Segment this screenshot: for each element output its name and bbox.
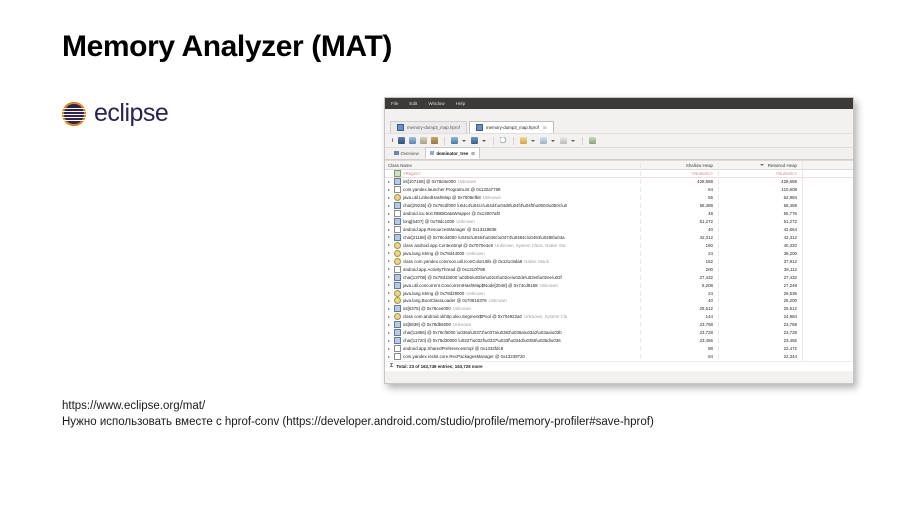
expand-arrow-icon[interactable]: ▸ [388,347,392,351]
editor-tab-active[interactable]: memory-dump3_map.hprof ☒ [469,121,554,133]
cell-spacer [802,234,853,242]
class-icon [394,258,401,265]
column-header-retained-heap[interactable]: Retained Heap [718,163,802,168]
editor-tab-label: memory-dump3_map.hprof [486,125,539,130]
array-icon [394,305,401,312]
menu-item-window[interactable]: Window [428,101,444,106]
cell-retained-heap: 27,248 [718,283,802,288]
cell-retained-heap: 23,728 [718,330,802,335]
table-row[interactable]: ▸char[11856] @ 0x78cf5000 \u036a\u0372\u… [385,329,853,337]
table-row[interactable]: ▸android.app.SharedPreferencesImpl @ 0x1… [385,345,853,353]
cell-shallow-heap: 40 [640,227,718,232]
array-icon [394,218,401,225]
array-icon [394,178,401,185]
cell-spacer [802,305,853,313]
table-row[interactable]: ▸int[5939] @ 0x78db6000Unknown23,76823,7… [385,321,853,329]
cell-class-name-modifiers: Unknown, System Class, Native Sta [495,243,565,248]
menu-item-help[interactable]: Help [456,101,465,106]
cell-spacer [802,241,853,249]
cell-class-name: ▸class com.android.okhttp.okio.Segment$P… [388,313,640,320]
class-icon [394,297,401,304]
expand-arrow-icon[interactable]: ▸ [388,196,392,200]
chevron-down-icon[interactable] [551,140,555,142]
editor-tab-strip: memory-dump3_map.hprof memory-dump3_map.… [385,109,853,133]
cell-class-name-modifiers: Unknown [453,306,471,311]
info-icon[interactable]: i [391,138,394,144]
dominator-tree-icon[interactable] [409,137,416,144]
table-filter-row[interactable]: <Regex> <Numeric> <Numeric> [385,170,853,178]
cell-shallow-heap: 88 [640,346,718,351]
heap-dump-icon [476,124,483,131]
menu-bar: File Edit Window Help [385,98,853,109]
cell-class-name-label: char[11856] @ 0x78cf5000 \u036a\u0372\u0… [403,330,562,335]
class-icon [394,313,401,320]
cell-class-name-label: class android.app.ContextImpl @ 0x7070e4… [403,243,493,248]
object-icon [394,266,401,273]
expand-arrow-icon[interactable]: ▸ [388,291,392,295]
cell-spacer [802,265,853,273]
table-row[interactable]: ▸java.lang.BootClassLoader @ 0x70616378U… [385,297,853,305]
cell-spacer [802,178,853,186]
class-icon [394,194,401,201]
cell-retained-heap: 58,488 [718,203,802,208]
cell-class-name-label: char[13708] @ 0x78d1b000 \u02b6\u02be\u0… [403,275,562,280]
cell-class-name-label: com.yandex.reckit.core.RecPackagesManage… [403,354,525,359]
filter-icon [394,170,401,177]
cell-spacer [802,202,853,210]
table-row[interactable]: ▸int[6375] @ 0x78cee000Unknown25,51225,5… [385,305,853,313]
class-icon [394,290,401,297]
menu-item-edit[interactable]: Edit [409,101,417,106]
cell-spacer [802,353,853,361]
cell-shallow-heap: 27,432 [640,275,718,280]
cell-class-name: ▸char[21168] @ 0x78cd4000 \u045c\u0464\u… [388,234,640,241]
cell-spacer [802,321,853,329]
cell-shallow-heap: 58,488 [640,203,718,208]
cell-class-name: ▸java.util.LinkedHashMap @ 0x7006efb8Unk… [388,194,640,201]
cell-retained-heap: 42,664 [718,227,802,232]
chevron-down-icon[interactable] [462,140,466,142]
column-header-spacer [802,161,853,169]
cell-shallow-heap: 64 [640,187,718,192]
expand-arrow-icon[interactable]: ▸ [388,220,392,224]
caption: https://www.eclipse.org/mat/ Нужно испол… [62,398,722,431]
cell-retained-heap: 37,912 [718,259,802,264]
object-icon [394,210,401,217]
cell-class-name-label: int[5939] @ 0x78db6000 [403,322,451,327]
histogram-icon[interactable] [398,137,405,144]
cell-retained-heap: 26,536 [718,291,802,296]
expand-arrow-icon[interactable]: ▸ [388,339,392,343]
cell-retained-heap: 26,200 [718,298,802,303]
cell-retained-heap: 38,200 [718,251,802,256]
array-icon [394,337,401,344]
cell-spacer [802,313,853,321]
array-icon [394,274,401,281]
editor-tab-label: memory-dump3_map.hprof [407,125,460,130]
table-row[interactable]: ▸com.yandex.launcher.ProgramList @ 0x132… [385,186,853,194]
cell-class-name: ▸char[11720] @ 0x78d30000 \u0327\u032f\u… [388,337,640,344]
cell-shallow-heap: 8,208 [640,283,718,288]
tab-overview[interactable]: Overview [389,147,424,159]
cell-shallow-heap: 200 [640,267,718,272]
cell-class-name-label: java.lang.BootClassLoader @ 0x70616378 [403,298,487,303]
close-icon[interactable]: ☒ [543,125,547,130]
cell-retained-heap: 55,776 [718,211,802,216]
eclipse-mark-icon [62,102,86,126]
array-icon [394,234,401,241]
toolbar-separator [444,137,445,145]
eclipse-wordmark: eclipse [94,101,168,126]
cell-class-name: ▸com.yandex.launcher.ProgramList @ 0x132… [388,186,640,193]
cell-retained-heap: 23,456 [718,338,802,343]
cell-class-name: ▸com.yandex.reckit.core.RecPackagesManag… [388,353,640,360]
array-icon [394,329,401,336]
cell-retained-heap: 51,272 [718,219,802,224]
table-footer-label[interactable]: Total: 23 of 163,749 entries; 163,726 mo… [396,364,482,369]
cell-class-name-label: char[29236] @ 0x78cdf000 \u04c4\u04cc\u0… [403,203,567,208]
table-row[interactable]: ▸char[21168] @ 0x78cd4000 \u045c\u0464\u… [385,234,853,242]
cell-retained-heap: 428,688 [718,179,802,184]
compare-icon[interactable] [540,137,547,144]
table-row[interactable]: ▸com.yandex.reckit.core.RecPackagesManag… [385,353,853,361]
cell-class-name-modifiers: Unknown, System Cla [524,314,567,319]
table-row[interactable]: ▸java.util.LinkedHashMap @ 0x7006efb8Unk… [385,194,853,202]
cell-class-name-label: class com.yandex.common.util.IconColorUt… [403,259,522,264]
cell-class-name-label: char[11720] @ 0x78d30000 \u0327\u032f\u0… [403,338,561,343]
cell-class-name: ▸int[6375] @ 0x78cee000Unknown [388,305,640,312]
cell-class-name-modifiers: Unknown [540,283,558,288]
cell-spacer [802,273,853,281]
expand-arrow-icon[interactable]: ▸ [388,331,392,335]
expand-arrow-icon[interactable]: ▸ [388,307,392,311]
cell-class-name: ▸char[11856] @ 0x78cf5000 \u036a\u0372\u… [388,329,640,336]
caption-note: Нужно использовать вместе с hprof-conv (… [62,414,722,430]
cell-spacer [802,210,853,218]
table-row[interactable]: ▸long[6407] @ 0x78dc1000Unknown51,27251,… [385,218,853,226]
class-icon [394,250,401,257]
cell-spacer [802,345,853,353]
info-icon [394,151,399,156]
object-icon [394,345,401,352]
cell-spacer [802,297,853,305]
chevron-down-icon[interactable] [482,140,486,142]
cell-class-name: ▸int[107168] @ 0x78d4e000Unknown [388,178,640,185]
cell-class-name-modifiers: Unknown [489,298,507,303]
cell-retained-heap: 22,344 [718,354,802,359]
table-row[interactable]: ▸java.util.concurrent.ConcurrentHashMap$… [385,281,853,289]
cell-class-name: ▸android.app.SharedPreferencesImpl @ 0x1… [388,345,640,352]
cell-class-name: ▸java.lang.BootClassLoader @ 0x70616378U… [388,297,640,304]
caption-url[interactable]: https://www.eclipse.org/mat/ [62,398,722,414]
expand-arrow-icon[interactable]: ▸ [388,323,392,327]
cell-class-name: ▸android.app.ActivityThread @ 0x1310f788 [388,266,640,273]
run-expert-system-test-icon[interactable] [589,137,596,144]
expand-arrow-icon[interactable]: ▸ [388,283,392,287]
cell-shallow-heap: 23,456 [640,338,718,343]
eclipse-logo: eclipse [62,101,168,126]
cell-shallow-heap: 42,312 [640,235,718,240]
cell-spacer [802,281,853,289]
cell-class-name: ▸class com.yandex.common.util.IconColorU… [388,258,640,265]
cell-retained-heap: 36,112 [718,267,802,272]
cell-class-name-label: android.icu.text.RBBIDataWrapper @ 0x130… [403,211,500,216]
chevron-down-icon[interactable] [571,140,575,142]
chevron-down-icon[interactable] [531,140,535,142]
cell-class-name-label: int[107168] @ 0x78d4e000 [403,179,456,184]
expand-arrow-icon[interactable]: ▸ [388,355,392,359]
cell-class-name: ▸int[5939] @ 0x78db6000Unknown [388,321,640,328]
cell-class-name-label: android.app.SharedPreferencesImpl @ 0x13… [403,346,503,351]
object-icon [394,353,401,360]
cell-shallow-heap: 144 [640,314,718,319]
cell-retained-heap: 22,472 [718,346,802,351]
expand-arrow-icon[interactable]: ▸ [388,267,392,271]
cell-class-name-modifiers: Unknown [466,291,484,296]
array-icon [394,202,401,209]
oql-icon[interactable] [431,137,438,144]
cell-spacer [802,257,853,265]
close-icon[interactable]: ☒ [471,151,475,156]
table-row[interactable]: ▸java.lang.String @ 0x78d44000Unknown243… [385,249,853,257]
thread-overview-icon[interactable] [420,137,427,144]
cell-class-name: ▸long[6407] @ 0x78dc1000Unknown [388,218,640,225]
expand-arrow-icon[interactable]: ▸ [388,212,392,216]
search-icon[interactable] [500,137,507,144]
cell-class-name-label: com.yandex.launcher.ProgramList @ 0x132a… [403,187,500,192]
cell-retained-heap: 40,320 [718,243,802,248]
cell-shallow-heap: 64 [640,354,718,359]
cell-shallow-heap: 51,272 [640,219,718,224]
cell-retained-heap: 24,984 [718,314,802,319]
cell-class-name-label: java.util.LinkedHashMap @ 0x7006efb8 [403,195,481,200]
table-row[interactable]: ▸class android.app.ContextImpl @ 0x7070e… [385,241,853,249]
export-icon[interactable] [560,137,567,144]
array-icon [394,321,401,328]
cell-class-name-modifiers: Unknown [453,322,471,327]
cell-class-name: ▸android.app.ResourcesManager @ 0x131198… [388,226,640,233]
column-header-class-name[interactable]: Class Name [388,163,640,168]
table-footer: Σ Total: 23 of 163,749 entries; 163,726 … [385,361,853,371]
cell-retained-heap: 62,984 [718,195,802,200]
cell-shallow-heap: 152 [640,259,718,264]
table-row[interactable]: ▸java.lang.String @ 0x78d29000Unknown242… [385,289,853,297]
open-query-icon[interactable] [520,137,527,144]
expand-arrow-icon[interactable]: ▸ [388,180,392,184]
sum-icon: Σ [390,363,393,369]
toolbar: i [385,133,853,148]
table-row[interactable]: ▸class com.yandex.common.util.IconColorU… [385,257,853,265]
expand-arrow-icon[interactable]: ▸ [388,228,392,232]
table-row[interactable]: ▸android.app.ActivityThread @ 0x1310f788… [385,265,853,273]
toolbar-separator [582,137,583,145]
cell-class-name-label: java.lang.String @ 0x78d44000 [403,251,464,256]
object-icon [394,226,401,233]
filter-class-name[interactable]: <Regex> [388,170,640,177]
editor-tab-inactive[interactable]: memory-dump3_map.hprof [390,121,467,133]
cell-spacer [802,218,853,226]
cell-shallow-heap: 428,688 [640,179,718,184]
expand-arrow-icon[interactable]: ▸ [388,235,392,239]
table-header-row: Class Name Shallow Heap Retained Heap [385,161,853,170]
cell-spacer [802,194,853,202]
expand-arrow-icon[interactable]: ▸ [388,259,392,263]
expand-arrow-icon[interactable]: ▸ [388,315,392,319]
table-row[interactable]: ▸android.app.ResourcesManager @ 0x131198… [385,226,853,234]
table-body: ▸int[107168] @ 0x78d4e000Unknown428,6884… [385,178,853,361]
cell-class-name-label: int[6375] @ 0x78cee000 [403,306,451,311]
cell-class-name: ▸java.lang.String @ 0x78d44000Unknown [388,250,640,257]
view-tab-strip: Overview dominator_tree ☒ [385,148,853,160]
column-header-shallow-heap[interactable]: Shallow Heap [640,163,718,168]
cell-spacer [802,329,853,337]
filter-shallow-heap[interactable]: <Numeric> [640,171,718,176]
view-tab-label: dominator_tree [436,151,468,156]
heap-dump-icon [397,124,404,131]
cell-shallow-heap: 24 [640,291,718,296]
cell-spacer [802,249,853,257]
array-icon [394,282,401,289]
cell-retained-heap: 110,608 [718,187,802,192]
expand-arrow-icon[interactable]: ▸ [388,188,392,192]
cell-shallow-heap: 23,728 [640,330,718,335]
cell-retained-heap: 25,512 [718,306,802,311]
table-row[interactable]: ▸int[107168] @ 0x78d4e000Unknown428,6884… [385,178,853,186]
cell-shallow-heap: 160 [640,243,718,248]
filter-retained-heap[interactable]: <Numeric> [718,171,802,176]
sort-descending-icon [760,164,764,166]
cell-class-name-label: android.app.ActivityThread @ 0x1310f788 [403,267,485,272]
cell-class-name: ▸char[13708] @ 0x78d1b000 \u02b6\u02be\u… [388,274,640,281]
calculate-retained-icon[interactable] [471,137,478,144]
expand-arrow-icon[interactable]: ▸ [388,299,392,303]
group-by-icon[interactable] [451,137,458,144]
cell-class-name-modifiers: Unknown [483,195,501,200]
cell-class-name-modifiers: Unknown [456,219,474,224]
table-row[interactable]: ▸char[11720] @ 0x78d30000 \u0327\u032f\u… [385,337,853,345]
cell-class-name: ▸char[29236] @ 0x78cdf000 \u04c4\u04cc\u… [388,202,640,209]
table-row[interactable]: ▸char[13708] @ 0x78d1b000 \u02b6\u02be\u… [385,273,853,281]
cell-retained-heap: 27,432 [718,275,802,280]
table-row[interactable]: ▸android.icu.text.RBBIDataWrapper @ 0x13… [385,210,853,218]
cell-class-name-label: java.lang.String @ 0x78d29000 [403,291,464,296]
cell-spacer [802,289,853,297]
mat-application-window: File Edit Window Help memory-dump3_map.h… [384,97,854,384]
page-title: Memory Analyzer (MAT) [62,30,392,64]
mat-body: memory-dump3_map.hprof memory-dump3_map.… [385,109,853,371]
cell-spacer [802,186,853,194]
cell-shallow-heap: 56 [640,195,718,200]
cell-class-name: ▸android.icu.text.RBBIDataWrapper @ 0x13… [388,210,640,217]
class-icon [394,242,401,249]
cell-shallow-heap: 25,512 [640,306,718,311]
cell-class-name: ▸java.util.concurrent.ConcurrentHashMap$… [388,282,640,289]
cell-class-name: ▸java.lang.String @ 0x78d29000Unknown [388,290,640,297]
expand-arrow-icon[interactable]: ▸ [388,204,392,208]
toolbar-separator [493,137,494,145]
cell-class-name-modifiers: Native Stack [524,259,549,264]
expand-arrow-icon[interactable]: ▸ [388,251,392,255]
cell-class-name-label: java.util.concurrent.ConcurrentHashMap$N… [403,283,538,288]
cell-retained-heap: 42,312 [718,235,802,240]
cell-class-name-modifiers: Unknown [458,179,476,184]
cell-class-name-label: char[21168] @ 0x78cd4000 \u045c\u0464\u0… [403,235,565,240]
cell-spacer [802,226,853,234]
cell-shallow-heap: 48 [640,211,718,216]
view-tab-label: Overview [401,151,419,156]
expand-arrow-icon[interactable]: ▸ [388,243,392,247]
menu-item-file[interactable]: File [391,101,398,106]
cell-class-name-label: class com.android.okhttp.okio.Segment$Po… [403,314,522,319]
table-row[interactable]: ▸char[29236] @ 0x78cdf000 \u04c4\u04cc\u… [385,202,853,210]
toolbar-separator [513,137,514,145]
tab-dominator-tree[interactable]: dominator_tree ☒ [425,147,480,159]
cell-class-name-label: android.app.ResourcesManager @ 0x1311983… [403,227,496,232]
cell-spacer [802,337,853,345]
cell-shallow-heap: 24 [640,251,718,256]
cell-retained-heap: 23,768 [718,322,802,327]
tree-icon [430,151,435,156]
cell-shallow-heap: 40 [640,298,718,303]
cell-class-name: ▸class android.app.ContextImpl @ 0x7070e… [388,242,640,249]
cell-class-name-modifiers: Unknown [466,251,484,256]
dominator-tree-table: Class Name Shallow Heap Retained Heap <R… [385,160,853,371]
cell-shallow-heap: 23,768 [640,322,718,327]
object-icon [394,186,401,193]
expand-arrow-icon[interactable]: ▸ [388,275,392,279]
cell-class-name-label: long[6407] @ 0x78dc1000 [403,219,454,224]
table-row[interactable]: ▸class com.android.okhttp.okio.Segment$P… [385,313,853,321]
